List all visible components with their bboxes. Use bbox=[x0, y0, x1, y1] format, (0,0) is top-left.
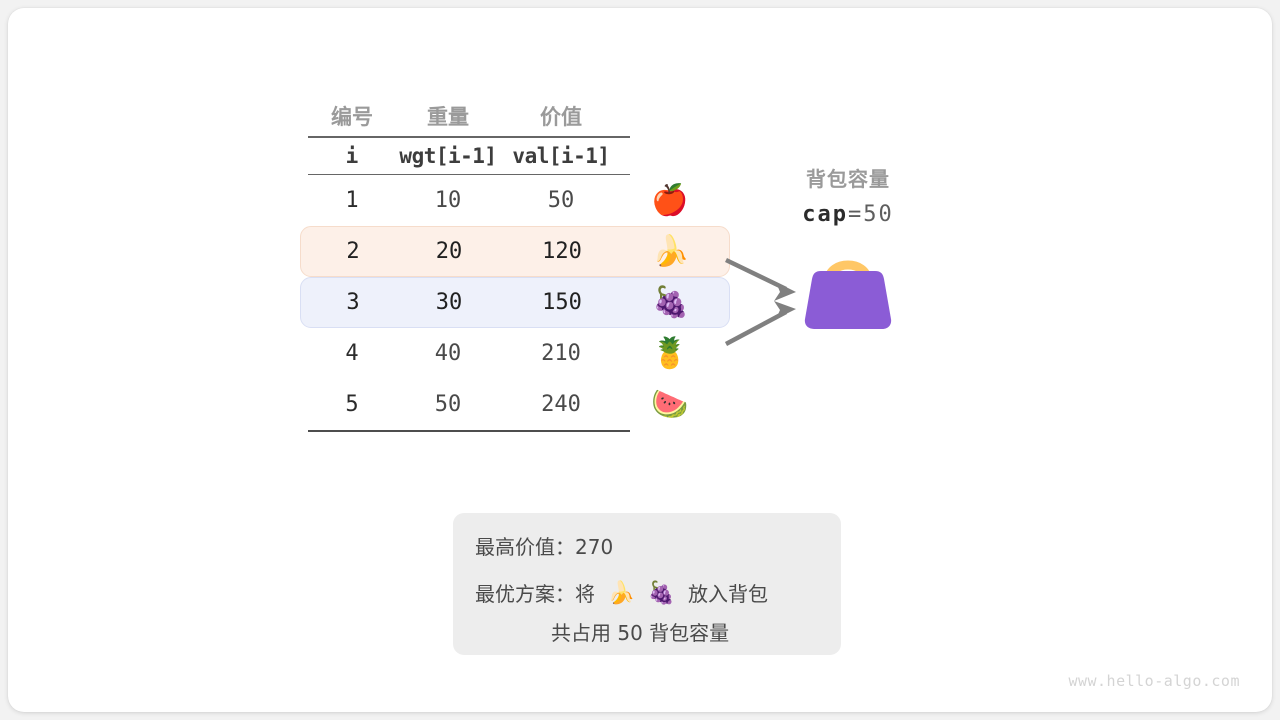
watermelon-icon: 🍉 bbox=[622, 390, 718, 420]
result-summary-box: 最高价值：270 最优方案：将 🍌 🍇 放入背包 共占用 50 背包容量 bbox=[453, 513, 841, 655]
cell-index: 5 bbox=[308, 392, 396, 417]
cell-value: 50 bbox=[500, 188, 622, 213]
cell-value: 210 bbox=[500, 341, 622, 366]
grapes-icon: 🍇 bbox=[648, 583, 675, 605]
optimal-plan-tail: 放入背包 bbox=[688, 584, 768, 604]
cell-weight: 10 bbox=[396, 188, 500, 213]
cell-value: 150 bbox=[501, 290, 623, 315]
max-value-label: 最高价值： bbox=[475, 537, 575, 557]
usage-suffix: 背包容量 bbox=[649, 623, 729, 643]
header-label-value: 价值 bbox=[500, 101, 622, 131]
cell-index: 3 bbox=[309, 290, 397, 315]
table-row[interactable]: 4 40 210 🍍 bbox=[300, 328, 730, 379]
table-header-chinese: 编号 重量 价值 bbox=[300, 96, 730, 136]
table-rule-bottom bbox=[308, 430, 630, 432]
table-header-code: i wgt[i-1] val[i-1] bbox=[300, 138, 730, 174]
cell-weight: 50 bbox=[396, 392, 500, 417]
header-label-weight: 重量 bbox=[396, 101, 500, 131]
grapes-icon: 🍇 bbox=[623, 288, 719, 318]
usage-line: 共占用 50 背包容量 bbox=[551, 623, 841, 643]
pineapple-icon: 🍍 bbox=[622, 339, 718, 369]
header-label-index: 编号 bbox=[308, 101, 396, 131]
usage-prefix: 共占用 bbox=[551, 623, 611, 643]
selection-arrows bbox=[724, 256, 810, 348]
cell-weight: 40 bbox=[396, 341, 500, 366]
cell-weight: 30 bbox=[397, 290, 501, 315]
diagram-card: 编号 重量 价值 i wgt[i-1] val[i-1] 1 10 50 🍎 2… bbox=[8, 8, 1272, 712]
max-value-line: 最高价值：270 bbox=[475, 537, 841, 557]
apple-icon: 🍎 bbox=[622, 186, 718, 216]
capacity-expression: cap=50 bbox=[748, 202, 948, 227]
capacity-value: 50 bbox=[863, 202, 894, 227]
capacity-var-name: cap bbox=[802, 202, 848, 227]
cell-value: 240 bbox=[500, 392, 622, 417]
cell-index: 4 bbox=[308, 341, 396, 366]
table-row[interactable]: 2 20 120 🍌 bbox=[300, 226, 730, 277]
header-code-value: val[i-1] bbox=[500, 144, 622, 168]
banana-icon: 🍌 bbox=[623, 237, 719, 267]
capacity-title: 背包容量 bbox=[748, 163, 948, 192]
table-row[interactable]: 3 30 150 🍇 bbox=[300, 277, 730, 328]
knapsack-capacity-block: 背包容量 cap=50 bbox=[748, 163, 948, 227]
optimal-plan-line: 最优方案：将 🍌 🍇 放入背包 bbox=[475, 583, 841, 605]
optimal-plan-label: 最优方案： bbox=[475, 584, 575, 604]
banana-icon: 🍌 bbox=[608, 583, 635, 605]
site-watermark: www.hello-algo.com bbox=[1068, 672, 1240, 690]
max-value-number: 270 bbox=[575, 537, 613, 557]
header-code-index: i bbox=[308, 144, 396, 168]
optimal-plan-verb: 将 bbox=[575, 584, 595, 604]
usage-value: 50 bbox=[617, 623, 642, 643]
knapsack-items-table: 编号 重量 价值 i wgt[i-1] val[i-1] 1 10 50 🍎 2… bbox=[300, 96, 730, 432]
header-code-weight: wgt[i-1] bbox=[396, 144, 500, 168]
knapsack-bag-icon bbox=[803, 246, 893, 332]
table-row[interactable]: 1 10 50 🍎 bbox=[300, 175, 730, 226]
table-row[interactable]: 5 50 240 🍉 bbox=[300, 379, 730, 430]
cell-index: 1 bbox=[308, 188, 396, 213]
cell-index: 2 bbox=[309, 239, 397, 264]
cell-value: 120 bbox=[501, 239, 623, 264]
capacity-equals: = bbox=[848, 202, 863, 227]
cell-weight: 20 bbox=[397, 239, 501, 264]
